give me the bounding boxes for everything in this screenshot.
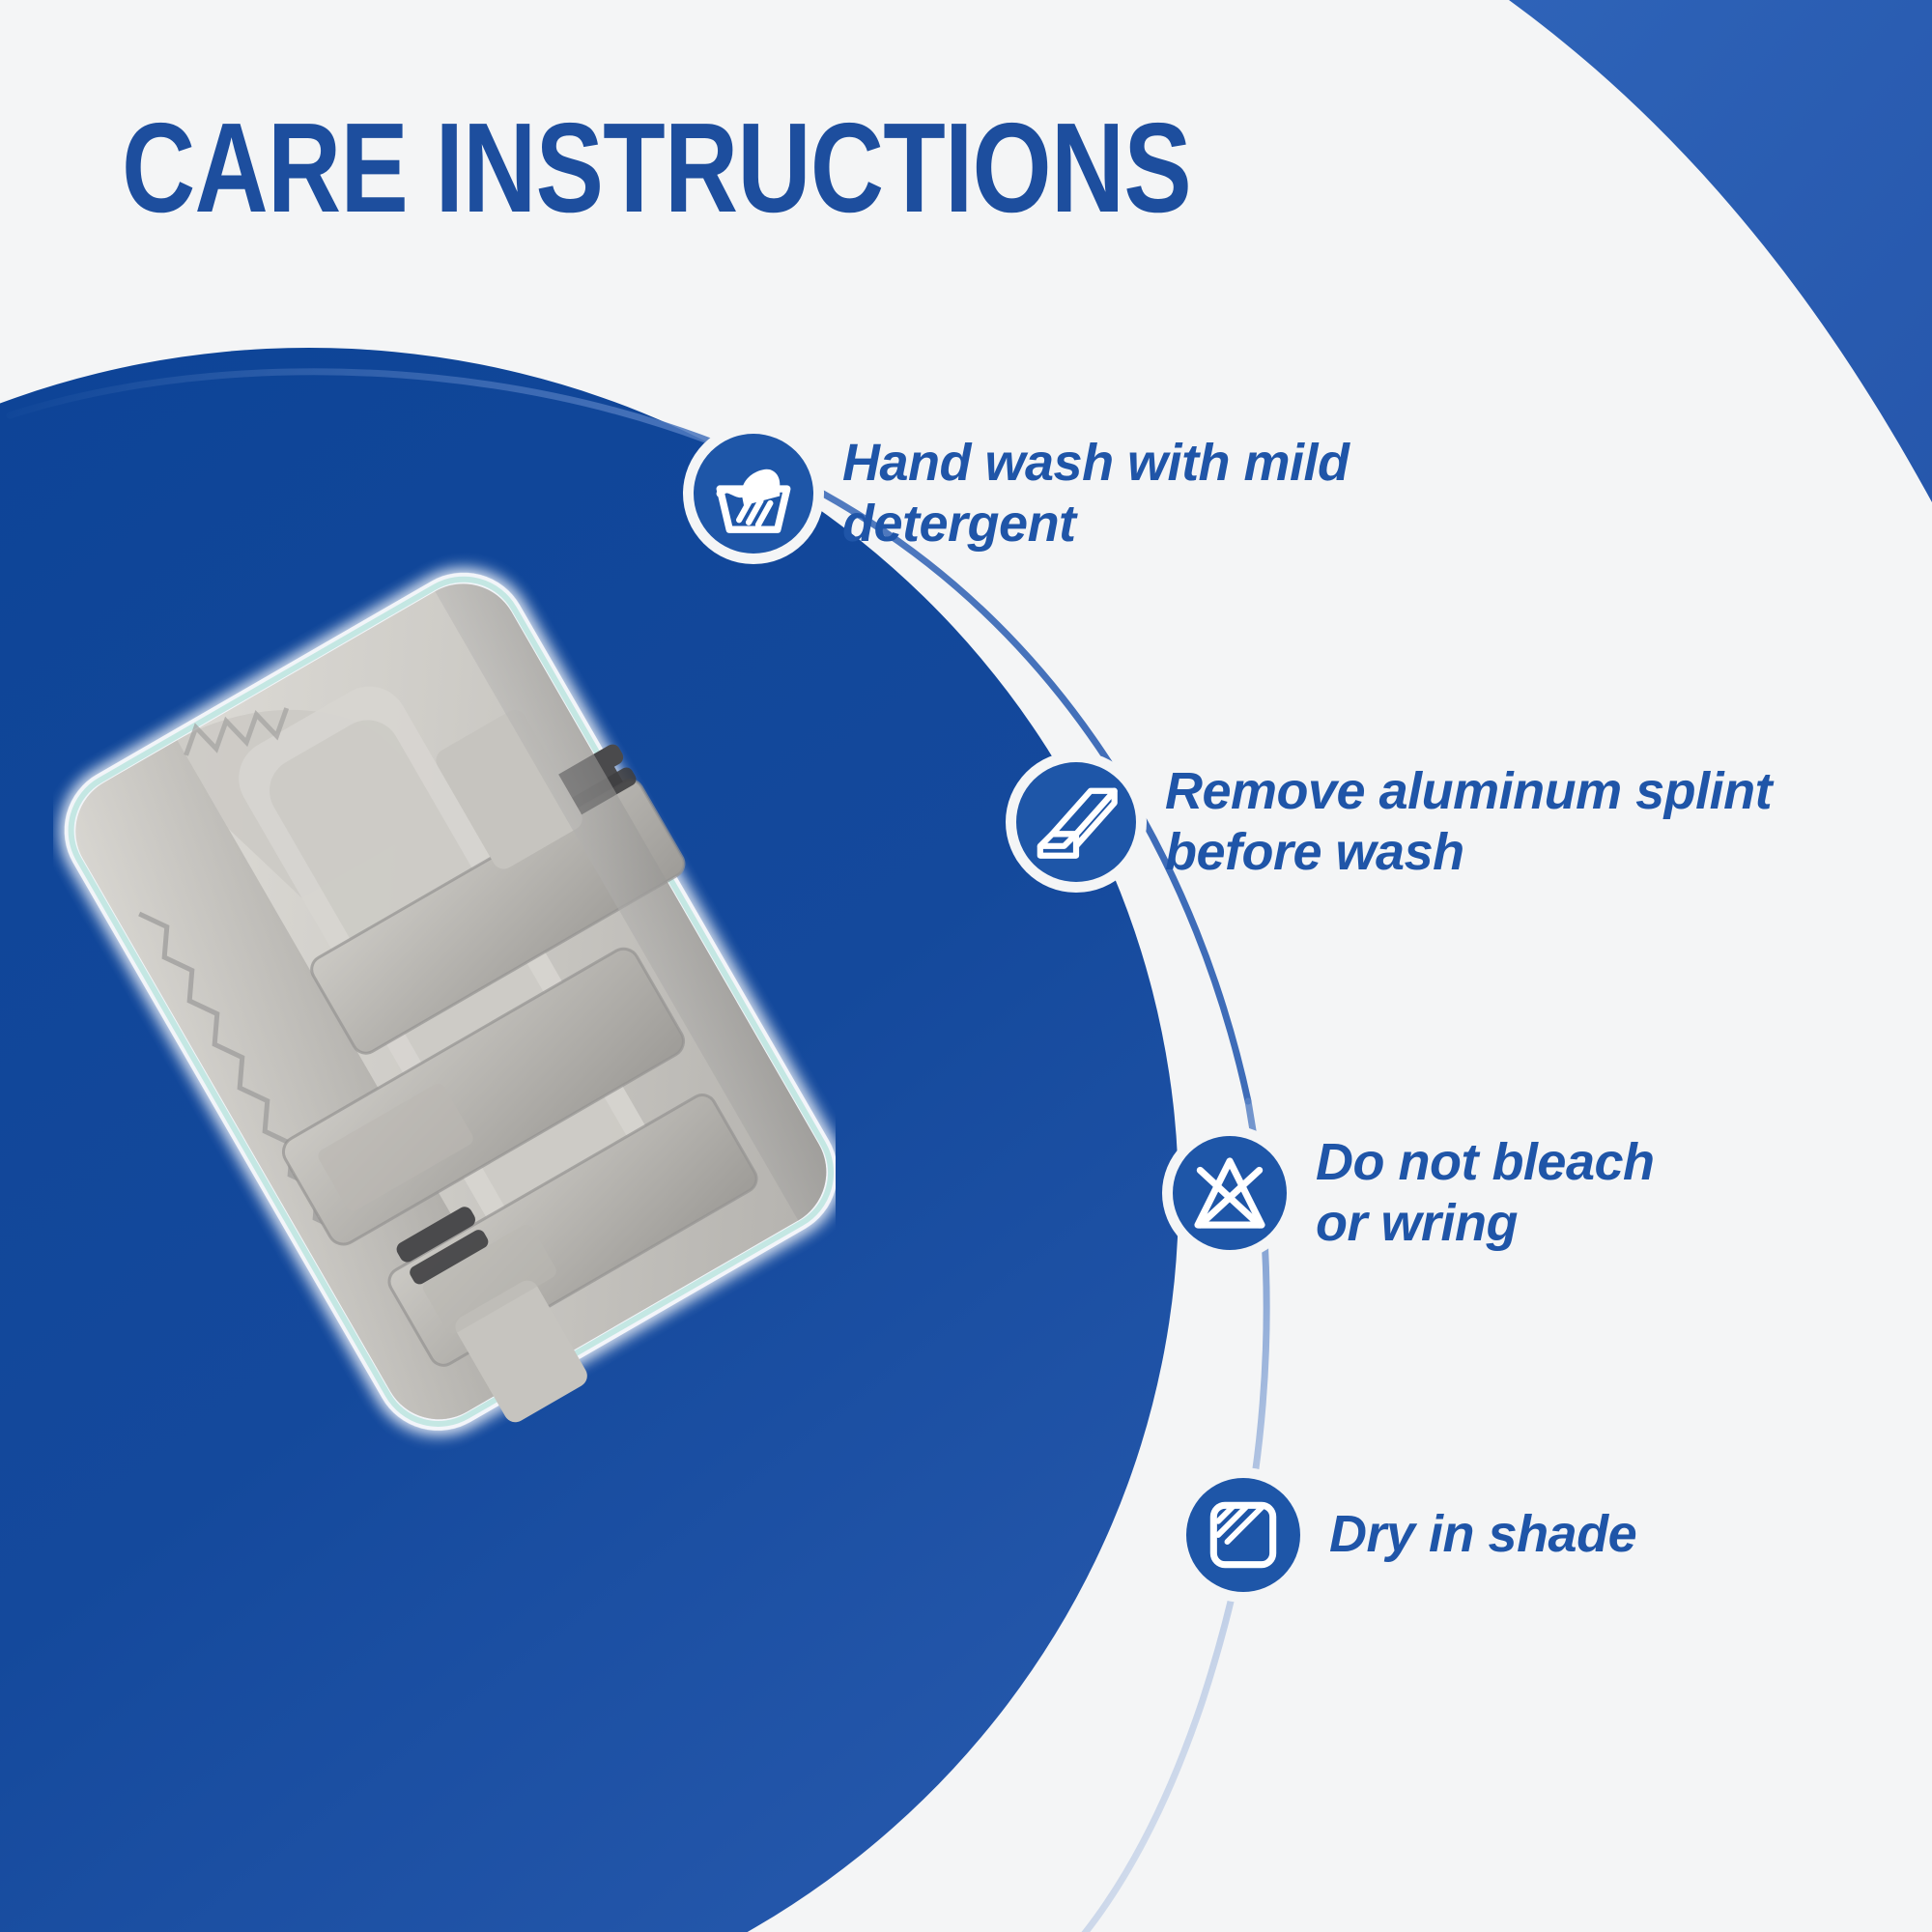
care-item-label: Dry in shade: [1329, 1504, 1636, 1565]
care-item-remove-splint: Remove aluminum splint before wash: [1016, 761, 1772, 883]
product-image: [53, 522, 836, 1478]
hand-wash-icon: [694, 434, 813, 554]
care-item-dry-in-shade: Dry in shade: [1186, 1478, 1636, 1592]
care-instructions-poster: CARE INSTRUCTIONS: [0, 0, 1932, 1932]
care-item-do-not-bleach: Do not bleach or wring: [1173, 1132, 1655, 1254]
care-item-label: Do not bleach or wring: [1316, 1132, 1655, 1254]
care-item-label: Remove aluminum splint before wash: [1165, 761, 1772, 883]
do-not-bleach-icon: [1173, 1136, 1287, 1250]
care-item-hand-wash: Hand wash with mild detergent: [694, 433, 1350, 554]
wrist-splint-illustration: [53, 522, 836, 1478]
care-item-label: Hand wash with mild detergent: [842, 433, 1350, 554]
page-title: CARE INSTRUCTIONS: [122, 104, 1191, 232]
aluminum-splint-icon: [1016, 762, 1136, 882]
dry-in-shade-icon: [1186, 1478, 1300, 1592]
